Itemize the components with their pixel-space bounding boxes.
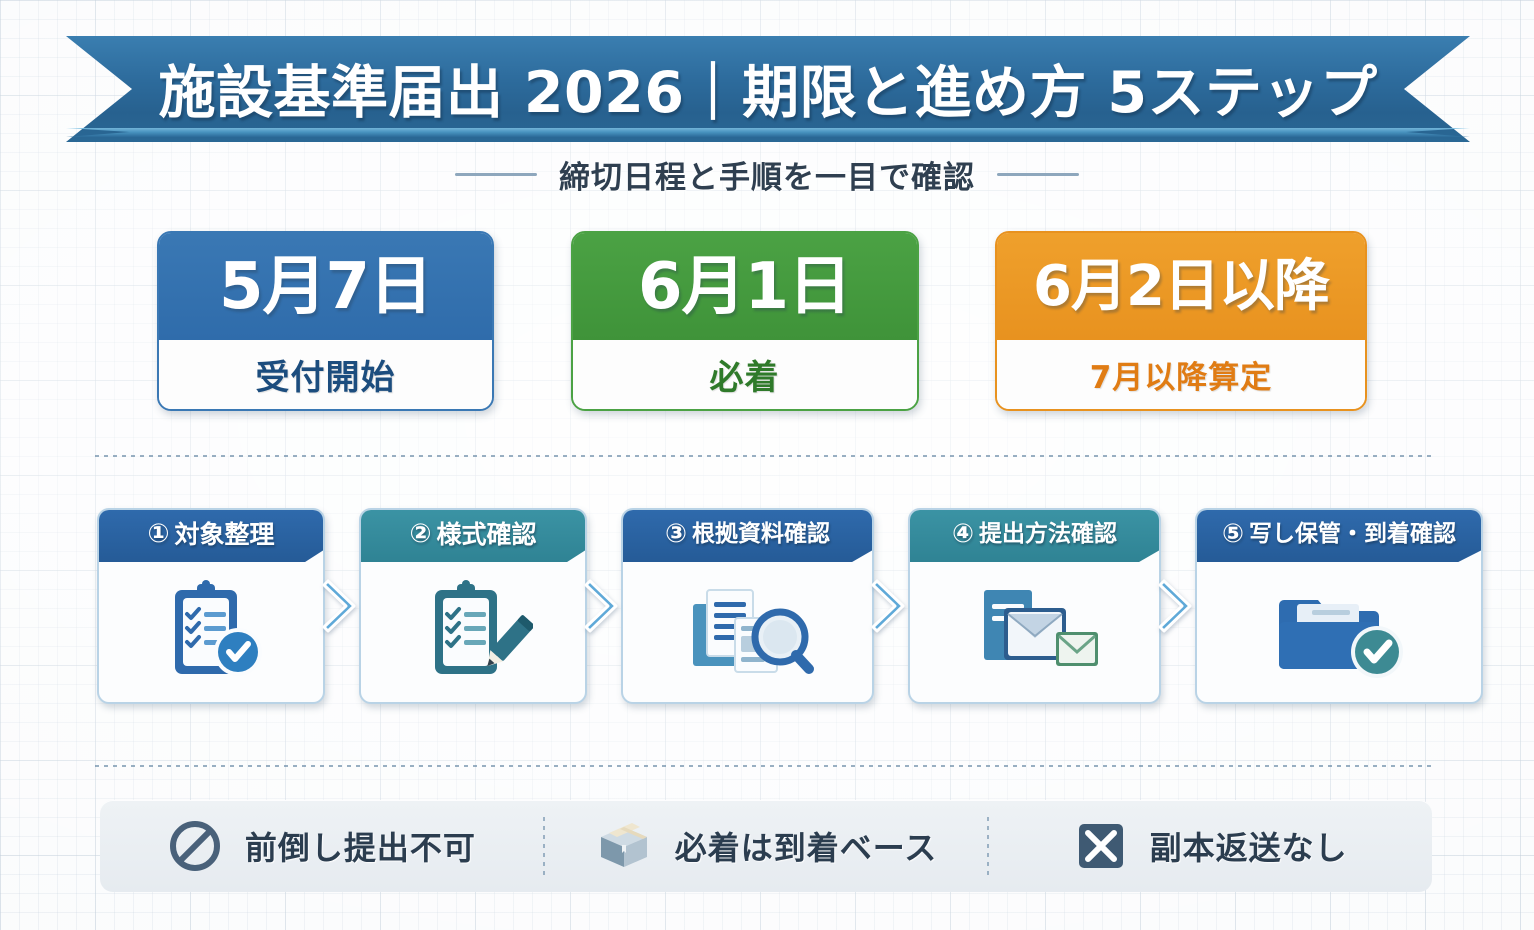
note-separator-1 (543, 817, 545, 875)
x-square-icon (1074, 819, 1128, 873)
step-label: 様式確認 (437, 522, 537, 547)
step-number: ⑤ (1222, 521, 1244, 547)
step-header: ④ 提出方法確認 (910, 510, 1159, 562)
page-title: 施設基準届出 2026｜期限と進め方 5ステップ (159, 47, 1378, 132)
envelopes-icon (910, 562, 1159, 702)
step-label: 提出方法確認 (979, 523, 1117, 546)
step-arrow-4-5 (1155, 508, 1201, 704)
deadline-card-caption-body: 必着 (573, 340, 917, 409)
title-ribbon: 施設基準届出 2026｜期限と進め方 5ステップ (66, 36, 1470, 142)
note-separator-2 (987, 817, 989, 875)
subtitle-rule-left (455, 173, 537, 176)
step-number: ① (147, 521, 169, 547)
folder-check-icon (1197, 562, 1481, 702)
deadline-card-after-june-2[interactable]: 6月2日以降 7月以降算定 (995, 231, 1367, 411)
deadline-card-reception-start[interactable]: 5月7日 受付開始 (157, 231, 494, 411)
step-label: 根拠資料確認 (692, 523, 830, 546)
deadline-card-date-header: 6月1日 (573, 233, 917, 340)
step-arrow-2-3 (581, 508, 627, 704)
page-subtitle: 締切日程と手順を一目で確認 (559, 152, 975, 197)
step-card-2[interactable]: ② 様式確認 (359, 508, 587, 704)
step-header: ⑤ 写し保管・到着確認 (1197, 510, 1481, 562)
clipboard-check-icon (99, 562, 323, 702)
deadline-card-must-arrive[interactable]: 6月1日 必着 (571, 231, 919, 411)
step-label: 対象整理 (175, 522, 275, 547)
note-label: 必着は到着ベース (675, 823, 937, 869)
step-arrow-3-4 (868, 508, 914, 704)
step-card-3[interactable]: ③ 根拠資料確認 (621, 508, 874, 704)
ribbon-highlight-bar (66, 128, 1470, 137)
notes-bar: 前倒し提出不可 必着は到着ベース 副本返送なし (100, 800, 1432, 892)
package-box-icon (595, 817, 653, 875)
step-number: ③ (665, 521, 687, 547)
note-item-arrival-based[interactable]: 必着は到着ベース (545, 817, 988, 875)
step-label: 写し保管・到着確認 (1249, 523, 1456, 546)
clipboard-pencil-icon (361, 562, 585, 702)
deadline-caption: 7月以降算定 (1090, 352, 1273, 397)
step-card-5[interactable]: ⑤ 写し保管・到着確認 (1195, 508, 1483, 704)
deadline-card-date-header: 6月2日以降 (997, 233, 1365, 340)
deadline-date: 5月7日 (219, 255, 432, 319)
divider-top (95, 455, 1435, 457)
documents-magnifier-icon (623, 562, 872, 702)
step-header: ① 対象整理 (99, 510, 323, 562)
step-header: ③ 根拠資料確認 (623, 510, 872, 562)
note-label: 副本返送なし (1150, 823, 1348, 869)
step-header: ② 様式確認 (361, 510, 585, 562)
deadline-card-caption-body: 7月以降算定 (997, 340, 1365, 409)
subtitle-rule-right (997, 173, 1079, 176)
divider-bottom (95, 765, 1435, 767)
deadline-date: 6月1日 (638, 255, 851, 319)
step-number: ② (409, 521, 431, 547)
deadline-cards: 5月7日 受付開始 6月1日 必着 6月2日以降 7月以降算定 (157, 231, 1367, 411)
step-card-1[interactable]: ① 対象整理 (97, 508, 325, 704)
deadline-caption: 必着 (710, 350, 780, 399)
note-label: 前倒し提出不可 (245, 823, 476, 869)
steps-row: ① 対象整理 (97, 508, 1419, 708)
deadline-card-caption-body: 受付開始 (159, 340, 492, 409)
prohibited-icon (167, 818, 223, 874)
deadline-date: 6月2日以降 (1033, 259, 1329, 315)
step-number: ④ (952, 521, 974, 547)
note-item-no-copy-return[interactable]: 副本返送なし (989, 819, 1432, 873)
deadline-caption: 受付開始 (256, 350, 396, 399)
step-arrow-1-2 (319, 508, 365, 704)
subtitle-row: 締切日程と手順を一目で確認 (0, 152, 1534, 197)
step-card-4[interactable]: ④ 提出方法確認 (908, 508, 1161, 704)
deadline-card-date-header: 5月7日 (159, 233, 492, 340)
note-item-no-early-submission[interactable]: 前倒し提出不可 (100, 818, 543, 874)
